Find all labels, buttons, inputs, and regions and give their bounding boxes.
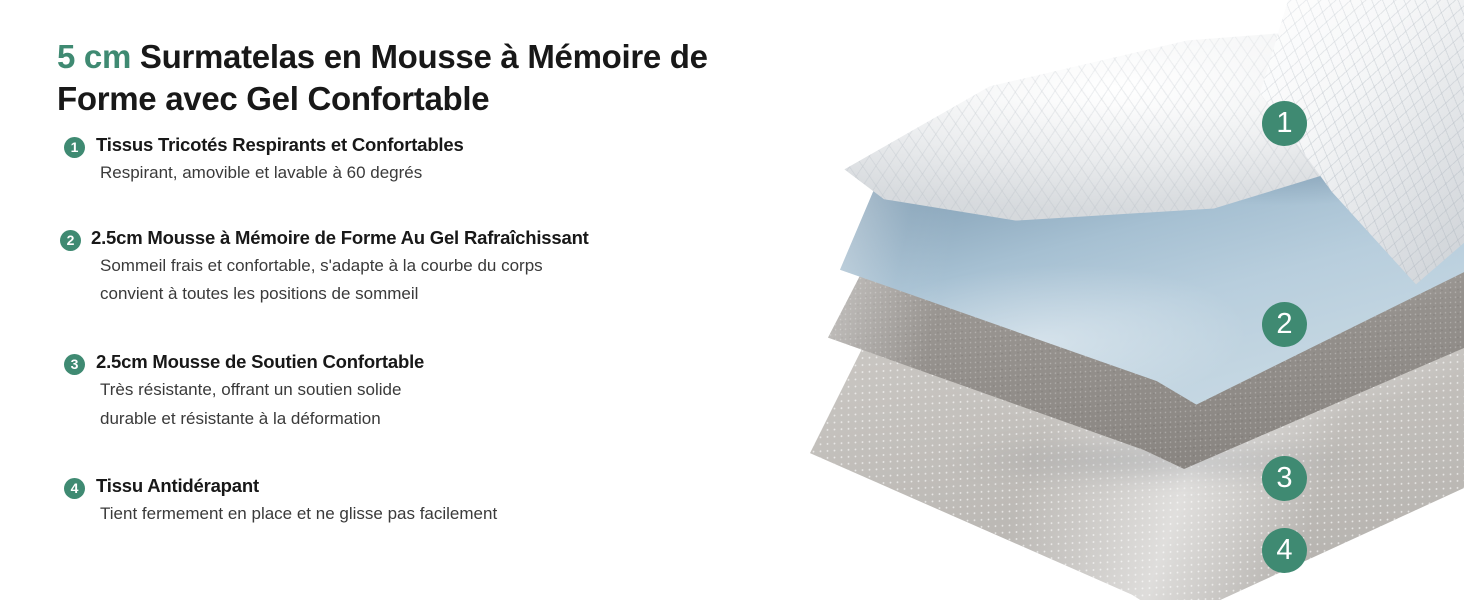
feature-desc-1-line-1: Respirant, amovible et lavable à 60 degr… [96, 160, 790, 186]
product-badge-3: 3 [1262, 456, 1307, 501]
feature-item-1: 1 Tissus Tricotés Respirants et Conforta… [57, 134, 790, 186]
product-badge-2: 2 [1262, 302, 1307, 347]
feature-desc-4-line-1: Tient fermement en place et ne glisse pa… [96, 501, 790, 527]
feature-badge-4: 4 [64, 478, 85, 499]
product-infographic: 5 cm Surmatelas en Mousse à Mémoire de F… [0, 0, 1464, 600]
feature-heading-4: Tissu Antidérapant [96, 475, 790, 498]
feature-desc-3-line-2: durable et résistante à la déformation [96, 406, 790, 432]
feature-heading-3: 2.5cm Mousse de Soutien Confortable [96, 351, 790, 374]
feature-badge-2: 2 [60, 230, 81, 251]
feature-list: 1 Tissus Tricotés Respirants et Conforta… [57, 134, 790, 527]
title-rest: Surmatelas en Mousse à Mémoire de Forme … [57, 38, 708, 117]
text-column: 5 cm Surmatelas en Mousse à Mémoire de F… [0, 0, 810, 600]
title-accent: 5 cm [57, 38, 131, 75]
feature-heading-1: Tissus Tricotés Respirants et Confortabl… [96, 134, 790, 157]
feature-item-4: 4 Tissu Antidérapant Tient fermement en … [57, 475, 790, 527]
product-badge-1: 1 [1262, 101, 1307, 146]
mattress-layer-stack: 1 2 3 4 [800, 0, 1464, 600]
feature-item-3: 3 2.5cm Mousse de Soutien Confortable Tr… [57, 351, 790, 432]
feature-badge-3: 3 [64, 354, 85, 375]
feature-desc-2-line-1: Sommeil frais et confortable, s'adapte à… [91, 253, 790, 279]
feature-desc-3-line-1: Très résistante, offrant un soutien soli… [96, 377, 790, 403]
page-title: 5 cm Surmatelas en Mousse à Mémoire de F… [57, 36, 790, 120]
product-badge-4: 4 [1262, 528, 1307, 573]
feature-heading-2: 2.5cm Mousse à Mémoire de Forme Au Gel R… [91, 227, 790, 250]
feature-desc-2-line-2: convient à toutes les positions de somme… [91, 281, 790, 307]
feature-item-2: 2 2.5cm Mousse à Mémoire de Forme Au Gel… [57, 227, 790, 308]
feature-badge-1: 1 [64, 137, 85, 158]
product-image: 1 2 3 4 [800, 0, 1464, 600]
